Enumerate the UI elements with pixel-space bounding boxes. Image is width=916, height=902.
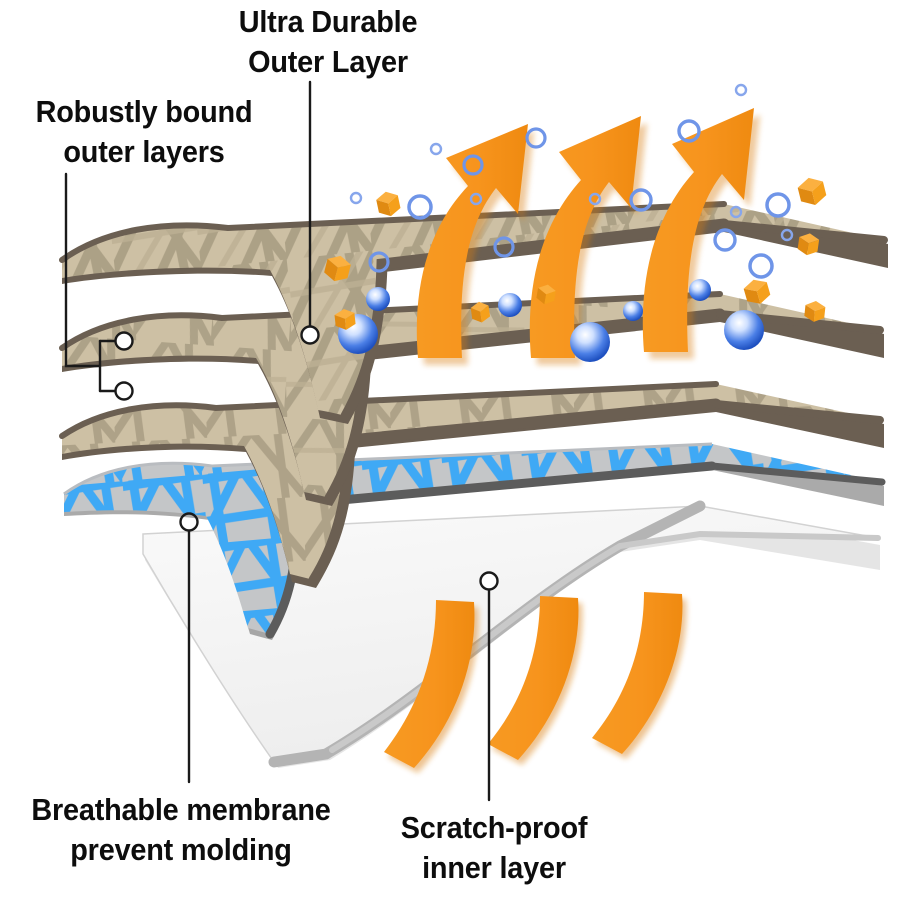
leader-robustly-bound <box>66 174 133 400</box>
label-ultra-durable-outer-layer: Ultra Durable Outer Layer <box>219 2 437 83</box>
label-scratch-proof-inner-layer: Scratch-proof inner layer <box>381 808 608 889</box>
label-breathable-membrane: Breathable membrane prevent molding <box>20 790 342 871</box>
label-robustly-bound-outer-layers: Robustly bound outer layers <box>19 92 268 173</box>
diagram-canvas: Ultra Durable Outer Layer Robustly bound… <box>0 0 916 902</box>
